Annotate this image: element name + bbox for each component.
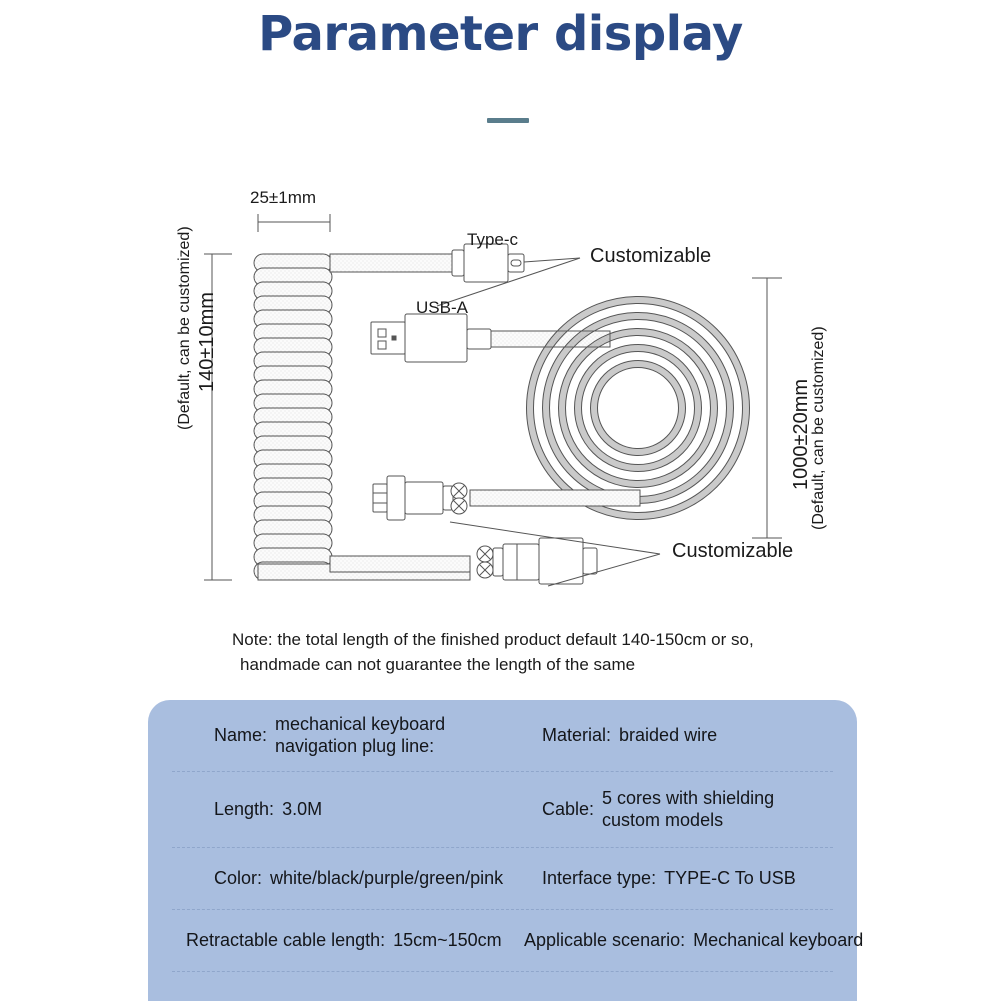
spec-key: Material:	[542, 725, 611, 746]
spec-cell-cable: Cable: 5 cores with shielding custom mod…	[542, 788, 774, 831]
spec-cell-interface-type: Interface type: TYPE-C To USB	[542, 868, 796, 889]
spec-value: braided wire	[619, 725, 717, 746]
spec-cell-material: Material: braided wire	[542, 725, 717, 746]
spec-value: mechanical keyboard navigation plug line…	[275, 714, 445, 757]
spec-value: 3.0M	[282, 799, 322, 820]
callout-top-customizable: Customizable	[590, 245, 711, 268]
spec-row: Retractable cable length: 15cm~150cm App…	[172, 910, 833, 972]
dimension-right-note: (Default, can be customized)	[810, 326, 828, 530]
spiral-cable-bundle	[527, 297, 750, 520]
aviator2-cable-run	[330, 556, 470, 572]
spec-key: Retractable cable length:	[186, 930, 385, 951]
spec-value: 15cm~150cm	[393, 930, 502, 951]
note-line-1: Note: the total length of the finished p…	[232, 630, 754, 649]
aviator1-cable-run	[470, 490, 640, 506]
dimension-line-right	[752, 278, 782, 538]
spec-key: Name:	[214, 725, 267, 746]
spec-row: Name: mechanical keyboard navigation plu…	[172, 700, 833, 772]
spec-key: Color:	[214, 868, 262, 889]
spec-value: TYPE-C To USB	[664, 868, 796, 889]
spec-value-line-2: custom models	[602, 810, 723, 830]
note-line-2: handmade can not guarantee the length of…	[232, 653, 852, 678]
typec-label: Type-c	[467, 230, 518, 250]
spec-value-line-1: mechanical keyboard	[275, 714, 445, 734]
spec-cell-color: Color: white/black/purple/green/pink	[214, 868, 503, 889]
cable-diagram: 25±1mm Type-c USB-A Customizable Customi…	[0, 150, 1001, 620]
dimension-top-label: 25±1mm	[250, 188, 316, 208]
spec-row: Length: 3.0M Cable: 5 cores with shieldi…	[172, 772, 833, 848]
typec-cable-run	[330, 254, 452, 272]
spec-value-line-2: navigation plug line:	[275, 736, 434, 756]
spec-key: Applicable scenario:	[524, 930, 685, 951]
spec-cell-name: Name: mechanical keyboard navigation plu…	[214, 714, 445, 757]
spec-value: Mechanical keyboard	[693, 930, 863, 951]
usba-connector	[371, 314, 491, 362]
title-divider	[487, 118, 529, 123]
spec-cell-length: Length: 3.0M	[214, 799, 322, 820]
spec-panel: Name: mechanical keyboard navigation plu…	[148, 700, 857, 1001]
spec-key: Length:	[214, 799, 274, 820]
parameter-display-page: Parameter display	[0, 0, 1001, 1001]
spec-value-line-1: 5 cores with shielding	[602, 788, 774, 808]
aviator-connector-upper	[373, 476, 467, 520]
spec-key: Interface type:	[542, 868, 656, 889]
callout-bottom-customizable: Customizable	[672, 540, 793, 563]
usba-label: USB-A	[416, 298, 468, 318]
dimension-left-note: (Default, can be customized)	[176, 226, 194, 430]
dimension-line-top	[258, 214, 330, 232]
dimension-left-value: 140±10mm	[196, 292, 219, 392]
spec-row: Color: white/black/purple/green/pink Int…	[172, 848, 833, 910]
spec-cell-retractable-length: Retractable cable length: 15cm~150cm	[186, 930, 502, 951]
spec-cell-applicable-scenario: Applicable scenario: Mechanical keyboard	[524, 930, 863, 951]
spec-value: white/black/purple/green/pink	[270, 868, 503, 889]
spec-value: 5 cores with shielding custom models	[602, 788, 774, 831]
cable-diagram-svg	[0, 150, 1001, 620]
note-text: Note: the total length of the finished p…	[232, 628, 852, 677]
page-title: Parameter display	[0, 6, 1001, 62]
spec-key: Cable:	[542, 799, 594, 820]
